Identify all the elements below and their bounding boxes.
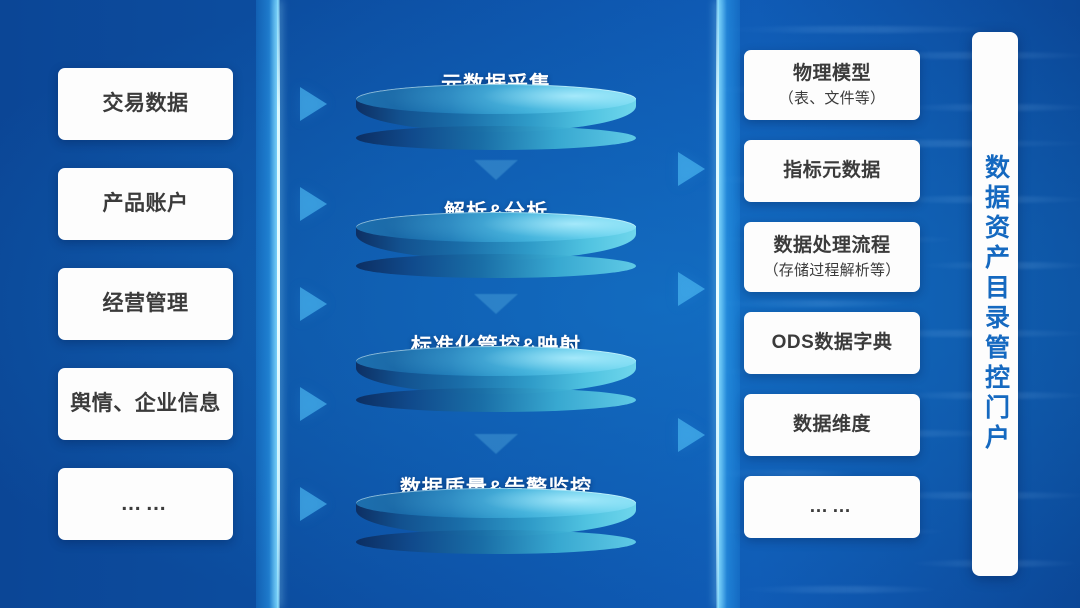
output-card-5[interactable]: 数据维度 [744, 394, 920, 456]
output-card-title: 数据维度 [793, 413, 871, 437]
arrow-right-icon-5 [300, 487, 327, 521]
output-card-1[interactable]: 物理模型 （表、文件等） [744, 50, 920, 120]
source-card-label: 产品账户 [103, 191, 189, 218]
source-card-label: 交易数据 [103, 91, 189, 118]
cylinder-bottom-cap [356, 530, 636, 554]
arrow-right-icon-8 [678, 418, 705, 452]
arrow-right-icon-2 [300, 187, 327, 221]
arrow-right-icon-6 [678, 152, 705, 186]
portal-bar[interactable]: 数据资产目录管控门户 [972, 32, 1018, 576]
source-card-label: …… [121, 491, 171, 518]
output-card-subtitle: （表、文件等） [779, 89, 885, 108]
portal-label: 数据资产目录管控门户 [983, 154, 1008, 454]
chevron-down-icon-1 [474, 160, 518, 180]
cylinder-top-ellipse [356, 488, 636, 518]
output-card-title: ODS数据字典 [772, 331, 893, 355]
source-card-label: 舆情、企业信息 [70, 391, 221, 418]
output-card-4[interactable]: ODS数据字典 [744, 312, 920, 374]
cylinder-bottom-cap [356, 254, 636, 278]
arrow-right-icon-1 [300, 87, 327, 121]
cylinder-top-ellipse [356, 84, 636, 114]
source-card-4[interactable]: 舆情、企业信息 [58, 368, 233, 440]
divider-band-right [716, 0, 740, 608]
chevron-down-icon-3 [474, 434, 518, 454]
output-card-title: …… [809, 495, 855, 519]
arrow-right-icon-3 [300, 287, 327, 321]
source-card-2[interactable]: 产品账户 [58, 168, 233, 240]
source-card-3[interactable]: 经营管理 [58, 268, 233, 340]
divider-band-left [256, 0, 280, 608]
arrow-right-icon-7 [678, 272, 705, 306]
chevron-down-icon-2 [474, 294, 518, 314]
output-card-title: 物理模型 [793, 62, 871, 86]
cylinder-bottom-cap [356, 388, 636, 412]
output-card-title: 数据处理流程 [773, 234, 890, 258]
cylinder-bottom-cap [356, 126, 636, 150]
source-card-1[interactable]: 交易数据 [58, 68, 233, 140]
output-card-subtitle: （存储过程解析等） [764, 261, 901, 280]
cylinder-top-ellipse [356, 212, 636, 242]
output-card-3[interactable]: 数据处理流程 （存储过程解析等） [744, 222, 920, 292]
source-card-5-ellipsis[interactable]: …… [58, 468, 233, 540]
source-card-label: 经营管理 [103, 291, 189, 318]
cylinder-top-ellipse [356, 346, 636, 376]
output-card-6-ellipsis[interactable]: …… [744, 476, 920, 538]
output-card-title: 指标元数据 [783, 159, 881, 183]
arrow-right-icon-4 [300, 387, 327, 421]
diagram-canvas: 交易数据 产品账户 经营管理 舆情、企业信息 …… 元数据采集 解析&分析 [0, 0, 1080, 608]
output-card-2[interactable]: 指标元数据 [744, 140, 920, 202]
